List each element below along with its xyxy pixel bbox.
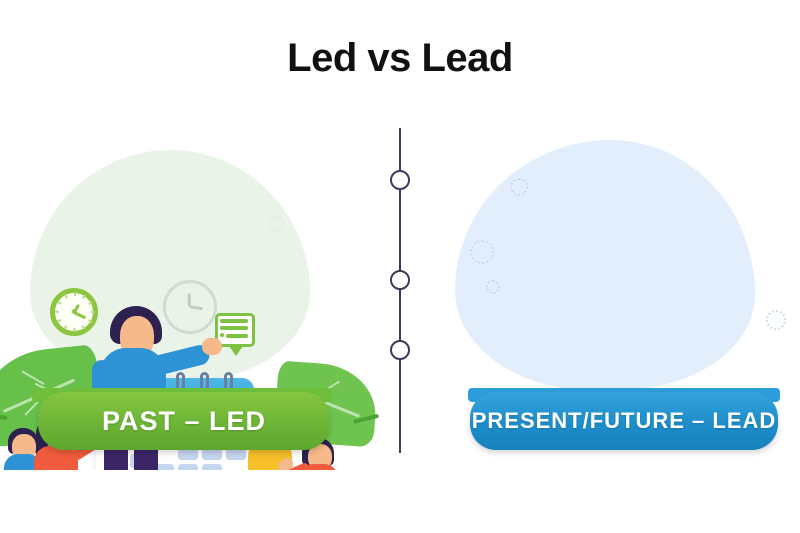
dotted-circle-decoration bbox=[470, 240, 494, 264]
timeline-node[interactable] bbox=[390, 170, 410, 190]
infographic-canvas: Led vs Lead bbox=[0, 0, 800, 533]
banner-past-led[interactable]: PAST – LED bbox=[38, 392, 330, 450]
outline-clock-icon bbox=[163, 280, 217, 334]
timeline-divider bbox=[390, 128, 410, 453]
dotted-circle-decoration bbox=[766, 310, 786, 330]
page-title: Led vs Lead bbox=[0, 36, 800, 81]
dotted-circle-decoration bbox=[510, 178, 528, 196]
bottom-spacer bbox=[0, 470, 800, 533]
green-clock-icon bbox=[50, 288, 98, 336]
timeline-node[interactable] bbox=[390, 270, 410, 290]
dotted-circle-decoration bbox=[268, 216, 284, 232]
banner-present-future-lead[interactable]: PRESENT/FUTURE – LEAD bbox=[470, 392, 778, 450]
timeline-node[interactable] bbox=[390, 340, 410, 360]
dotted-circle-decoration bbox=[486, 280, 500, 294]
background-blob-blue bbox=[455, 140, 755, 390]
